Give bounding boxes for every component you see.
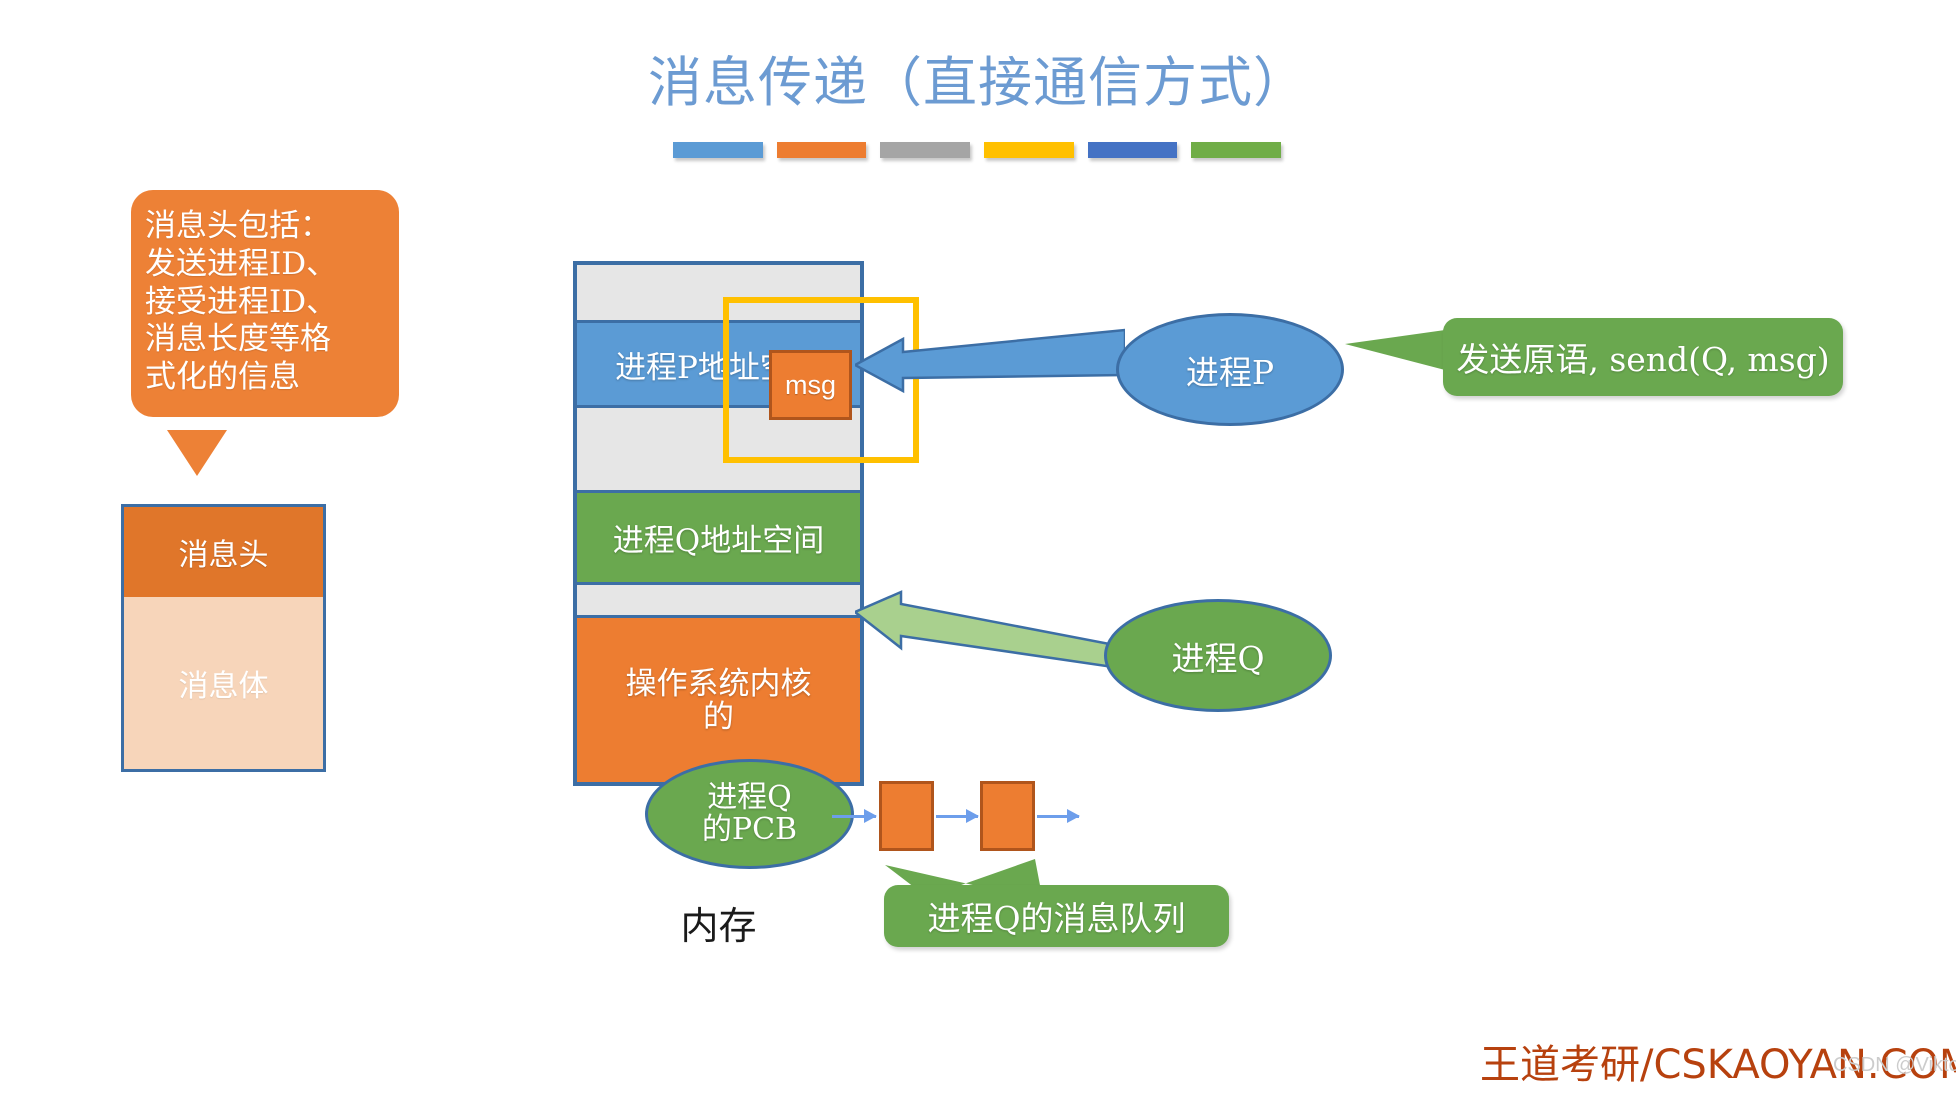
queue-message-box-2 (980, 781, 1035, 851)
note-callout-tail (167, 430, 227, 476)
message-structure: 消息头 消息体 (121, 504, 326, 772)
memory-band-gap-lower (577, 585, 860, 615)
message-body-block: 消息体 (124, 597, 323, 769)
memory-caption: 内存 (573, 895, 864, 950)
receive-flow-arrow (855, 590, 1120, 670)
send-callout-tail (1345, 330, 1445, 370)
queue-arrow-3 (1037, 815, 1079, 818)
note-line-2: 发送进程ID、 (145, 246, 385, 284)
kernel-label: 操作系统内核 的 (626, 666, 812, 733)
memory-band-kernel: 操作系统内核 的 (577, 615, 860, 782)
send-primitive-callout: 发送原语, send(Q, msg) (1443, 318, 1843, 396)
process-p-ellipse: 进程P (1116, 313, 1344, 426)
queue-arrow-2 (936, 815, 978, 818)
note-line-1: 消息头包括： (145, 208, 385, 246)
pcb-line1: 进程Q (707, 782, 792, 814)
message-head-block: 消息头 (124, 507, 323, 597)
pcb-line2: 的PCB (702, 814, 797, 846)
queue-callout: 进程Q的消息队列 (884, 885, 1229, 947)
rule-segment-6 (1191, 142, 1281, 158)
queue-message-box-1 (879, 781, 934, 851)
rule-segment-5 (1088, 142, 1178, 158)
page-title: 消息传递（直接通信方式） (0, 38, 1956, 117)
rule-segment-4 (984, 142, 1074, 158)
queue-arrow-1 (832, 815, 876, 818)
send-flow-arrow (855, 325, 1125, 405)
note-line-4: 消息长度等格 (145, 321, 385, 359)
memory-band-process-q: 进程Q地址空间 (577, 490, 860, 585)
title-rule (673, 142, 1281, 158)
rule-segment-1 (673, 142, 763, 158)
message-header-note-callout: 消息头包括： 发送进程ID、 接受进程ID、 消息长度等格 式化的信息 (131, 190, 399, 417)
process-q-pcb-ellipse: 进程Q 的PCB (645, 759, 854, 869)
rule-segment-3 (880, 142, 970, 158)
note-line-5: 式化的信息 (145, 359, 385, 397)
rule-segment-2 (777, 142, 867, 158)
slide-canvas: 消息传递（直接通信方式） 消息头包括： 发送进程ID、 接受进程ID、 消息长度… (0, 0, 1956, 1094)
kernel-label-line1: 操作系统内核 (626, 666, 812, 702)
note-line-3: 接受进程ID、 (145, 284, 385, 322)
watermark-label: CSDN @Viktoriae (1833, 1054, 1956, 1077)
process-q-ellipse: 进程Q (1104, 599, 1332, 712)
kernel-label-line2: 的 (703, 699, 734, 735)
